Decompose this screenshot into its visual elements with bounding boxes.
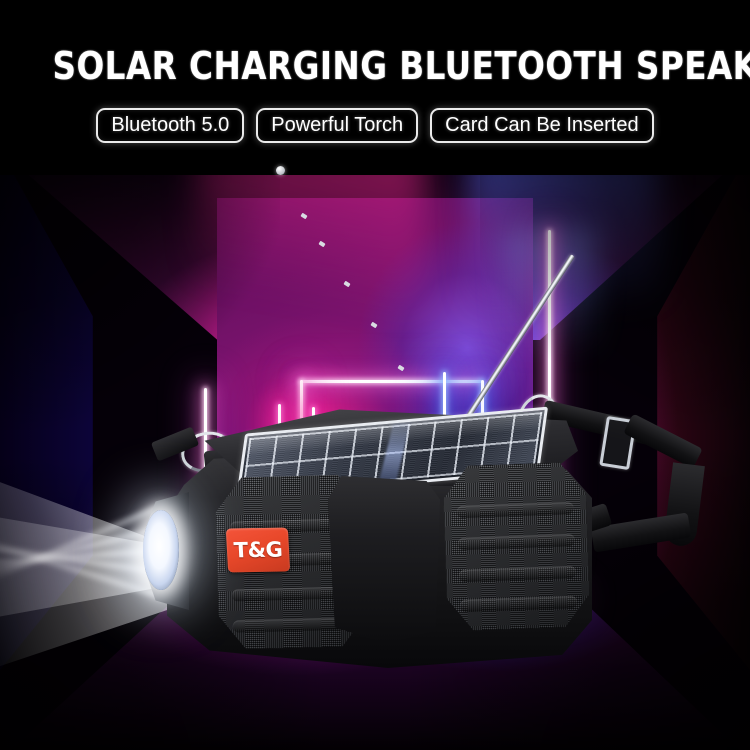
feature-badge-card: Card Can Be Inserted bbox=[430, 108, 653, 143]
product-banner: SOLAR CHARGING BLUETOOTH SPEAKER Bluetoo… bbox=[0, 0, 750, 750]
page-title: SOLAR CHARGING BLUETOOTH SPEAKER bbox=[53, 44, 698, 88]
feature-badge-torch: Powerful Torch bbox=[256, 108, 418, 143]
antenna-joint-3 bbox=[343, 281, 350, 288]
vignette-top-left bbox=[0, 130, 280, 430]
feature-badge-list: Bluetooth 5.0 Powerful Torch Card Can Be… bbox=[0, 108, 750, 143]
grille-ridge-r4 bbox=[460, 596, 578, 612]
telescopic-antenna bbox=[240, 170, 480, 430]
vignette-top-right bbox=[480, 130, 750, 430]
speaker-grille-right bbox=[442, 462, 591, 632]
speaker-center-panel bbox=[328, 476, 440, 644]
brand-logo: T&G bbox=[226, 527, 290, 572]
antenna-joint-4 bbox=[370, 322, 377, 329]
led-torch-light bbox=[143, 510, 179, 590]
antenna-joint-1 bbox=[300, 213, 307, 220]
feature-badge-bluetooth: Bluetooth 5.0 bbox=[96, 108, 244, 143]
grille-ridge-r3 bbox=[459, 566, 577, 582]
brand-logo-text: T&G bbox=[233, 538, 283, 563]
antenna-joint-5 bbox=[397, 365, 404, 372]
bluetooth-speaker bbox=[145, 398, 615, 698]
grille-ridge-r1 bbox=[456, 502, 574, 518]
antenna-tip bbox=[276, 166, 285, 175]
antenna-joint-2 bbox=[318, 241, 325, 248]
grille-ridge-r2 bbox=[458, 534, 576, 550]
